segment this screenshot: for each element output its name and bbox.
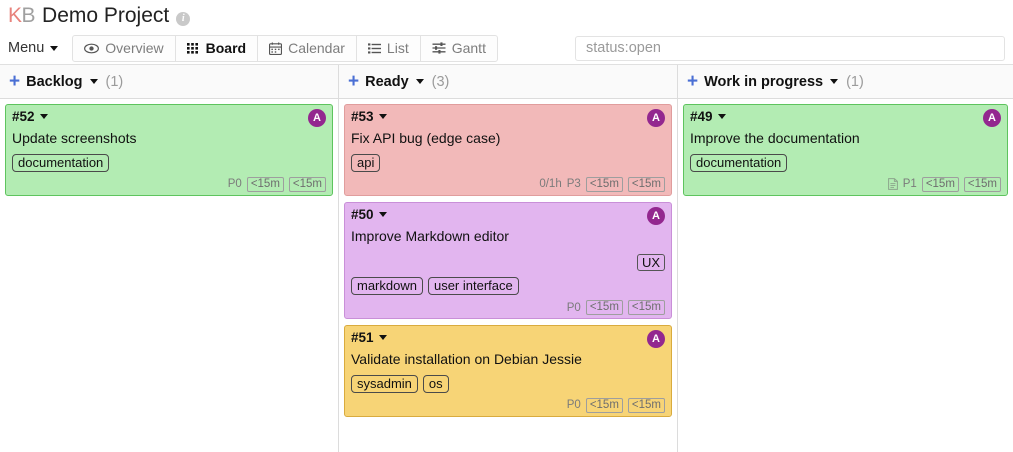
avatar[interactable]: A [647, 207, 665, 225]
time-estimate-badge: <15m [586, 398, 623, 413]
chevron-down-icon [379, 335, 387, 340]
task-priority: P0 [567, 302, 581, 314]
info-icon[interactable]: i [176, 12, 190, 26]
time-spent-badge: <15m [289, 177, 326, 192]
task-tags: documentation [690, 154, 1001, 172]
column-header: + Work in progress (1) [678, 65, 1013, 99]
task-id-label: #53 [351, 109, 374, 124]
tag[interactable]: markdown [351, 277, 423, 295]
task-priority: P1 [903, 178, 917, 190]
task-time-spent: 0/1h [539, 178, 561, 190]
column-task-count: (1) [846, 74, 864, 90]
time-spent-badge: <15m [628, 177, 665, 192]
board-column-backlog: + Backlog (1) #52 A Update screenshots d… [0, 65, 339, 452]
board-column-ready: + Ready (3) #53 A Fix API bug (edge case… [339, 65, 678, 452]
avatar[interactable]: A [308, 109, 326, 127]
column-task-list: #49 A Improve the documentation document… [678, 99, 1013, 452]
column-title[interactable]: Work in progress [704, 74, 823, 90]
tab-calendar-label: Calendar [288, 40, 345, 56]
tag[interactable]: os [423, 375, 449, 393]
task-card-header: #50 A [351, 207, 665, 225]
kanban-board: + Backlog (1) #52 A Update screenshots d… [0, 65, 1013, 452]
task-priority: P0 [567, 399, 581, 411]
grid-icon [187, 43, 200, 54]
app-header: KB Demo Project i [0, 0, 1013, 32]
chevron-down-icon[interactable] [416, 79, 424, 84]
time-estimate-badge: <15m [247, 177, 284, 192]
task-id[interactable]: #53 [351, 109, 387, 124]
tag[interactable]: api [351, 154, 380, 172]
avatar[interactable]: A [647, 109, 665, 127]
task-card-header: #51 A [351, 330, 665, 348]
column-task-list: #52 A Update screenshots documentation P… [0, 99, 338, 452]
tab-overview[interactable]: Overview [73, 36, 175, 61]
time-estimate-badge: <15m [586, 177, 623, 192]
time-spent-badge: <15m [964, 177, 1001, 192]
tab-list-label: List [387, 40, 409, 56]
task-card-header: #53 A [351, 109, 665, 127]
task-category-row: UX [351, 254, 665, 271]
category-badge[interactable]: UX [637, 254, 665, 271]
task-title: Fix API bug (edge case) [351, 130, 665, 148]
column-task-count: (3) [432, 74, 450, 90]
task-card[interactable]: #50 A Improve Markdown editor UX markdow… [344, 202, 672, 320]
time-spent-badge: <15m [628, 398, 665, 413]
task-id-label: #50 [351, 207, 374, 222]
menu-dropdown-button[interactable]: Menu [8, 40, 72, 56]
task-tags: markdown user interface [351, 277, 665, 295]
chevron-down-icon[interactable] [90, 79, 98, 84]
add-task-button[interactable]: + [687, 72, 698, 91]
avatar[interactable]: A [647, 330, 665, 348]
task-card-header: #52 A [12, 109, 326, 127]
task-card-footer: 0/1h P3 <15m <15m [351, 177, 665, 192]
chevron-down-icon[interactable] [830, 79, 838, 84]
add-task-button[interactable]: + [348, 72, 359, 91]
app-logo[interactable]: KB [8, 4, 35, 28]
view-tabs: Overview Board [72, 35, 498, 62]
tab-board[interactable]: Board [176, 36, 258, 61]
tag[interactable]: documentation [12, 154, 109, 172]
task-tags: documentation [12, 154, 326, 172]
task-card-footer: P0 <15m <15m [12, 177, 326, 192]
board-column-work-in-progress: + Work in progress (1) #49 A Improve the… [678, 65, 1013, 452]
column-header: + Ready (3) [339, 65, 677, 99]
menu-label: Menu [8, 40, 44, 56]
task-id-label: #49 [690, 109, 713, 124]
tag[interactable]: user interface [428, 277, 519, 295]
chevron-down-icon [379, 212, 387, 217]
navigation-bar: Menu Overview Board [0, 32, 1013, 65]
logo-letter-k: K [8, 4, 22, 27]
task-id[interactable]: #50 [351, 207, 387, 222]
tab-calendar[interactable]: Calendar [258, 36, 357, 61]
task-id[interactable]: #52 [12, 109, 48, 124]
column-title[interactable]: Ready [365, 74, 409, 90]
task-card[interactable]: #52 A Update screenshots documentation P… [5, 104, 333, 196]
task-tags: api [351, 154, 665, 172]
tag[interactable]: sysadmin [351, 375, 418, 393]
task-card-footer: P0 <15m <15m [351, 300, 665, 315]
tab-board-label: Board [206, 40, 246, 56]
chevron-down-icon [40, 114, 48, 119]
logo-letter-b: B [22, 4, 36, 27]
task-card-footer: P0 <15m <15m [351, 398, 665, 413]
task-title: Update screenshots [12, 130, 326, 148]
list-icon [368, 43, 381, 54]
tag[interactable]: documentation [690, 154, 787, 172]
task-title: Validate installation on Debian Jessie [351, 351, 665, 369]
task-card[interactable]: #53 A Fix API bug (edge case) api 0/1h P… [344, 104, 672, 196]
task-card[interactable]: #49 A Improve the documentation document… [683, 104, 1008, 196]
time-spent-badge: <15m [628, 300, 665, 315]
task-id-label: #52 [12, 109, 35, 124]
time-estimate-badge: <15m [922, 177, 959, 192]
chevron-down-icon [50, 46, 58, 51]
tab-list[interactable]: List [357, 36, 421, 61]
task-title: Improve Markdown editor [351, 228, 665, 246]
task-priority: P3 [567, 178, 581, 190]
column-header: + Backlog (1) [0, 65, 338, 99]
chevron-down-icon [379, 114, 387, 119]
task-card-footer: P1 <15m <15m [690, 177, 1001, 192]
tab-gantt[interactable]: Gantt [421, 36, 497, 61]
time-estimate-badge: <15m [586, 300, 623, 315]
calendar-icon [269, 42, 282, 55]
search-input[interactable] [575, 36, 1005, 61]
task-card[interactable]: #51 A Validate installation on Debian Je… [344, 325, 672, 417]
avatar[interactable]: A [983, 109, 1001, 127]
task-card-header: #49 A [690, 109, 1001, 127]
column-task-list: #53 A Fix API bug (edge case) api 0/1h P… [339, 99, 677, 452]
task-priority: P0 [228, 178, 242, 190]
sliders-icon [432, 42, 446, 54]
chevron-down-icon [718, 114, 726, 119]
task-id-label: #51 [351, 330, 374, 345]
tab-gantt-label: Gantt [452, 40, 486, 56]
column-title[interactable]: Backlog [26, 74, 82, 90]
task-id[interactable]: #51 [351, 330, 387, 345]
search-container [575, 36, 1005, 61]
tab-overview-label: Overview [105, 40, 163, 56]
task-id[interactable]: #49 [690, 109, 726, 124]
page-title: Demo Project [42, 4, 169, 28]
add-task-button[interactable]: + [9, 72, 20, 91]
eye-icon [84, 43, 99, 54]
task-title: Improve the documentation [690, 130, 1001, 148]
column-task-count: (1) [106, 74, 124, 90]
task-tags: sysadmin os [351, 375, 665, 393]
description-icon [888, 178, 898, 190]
